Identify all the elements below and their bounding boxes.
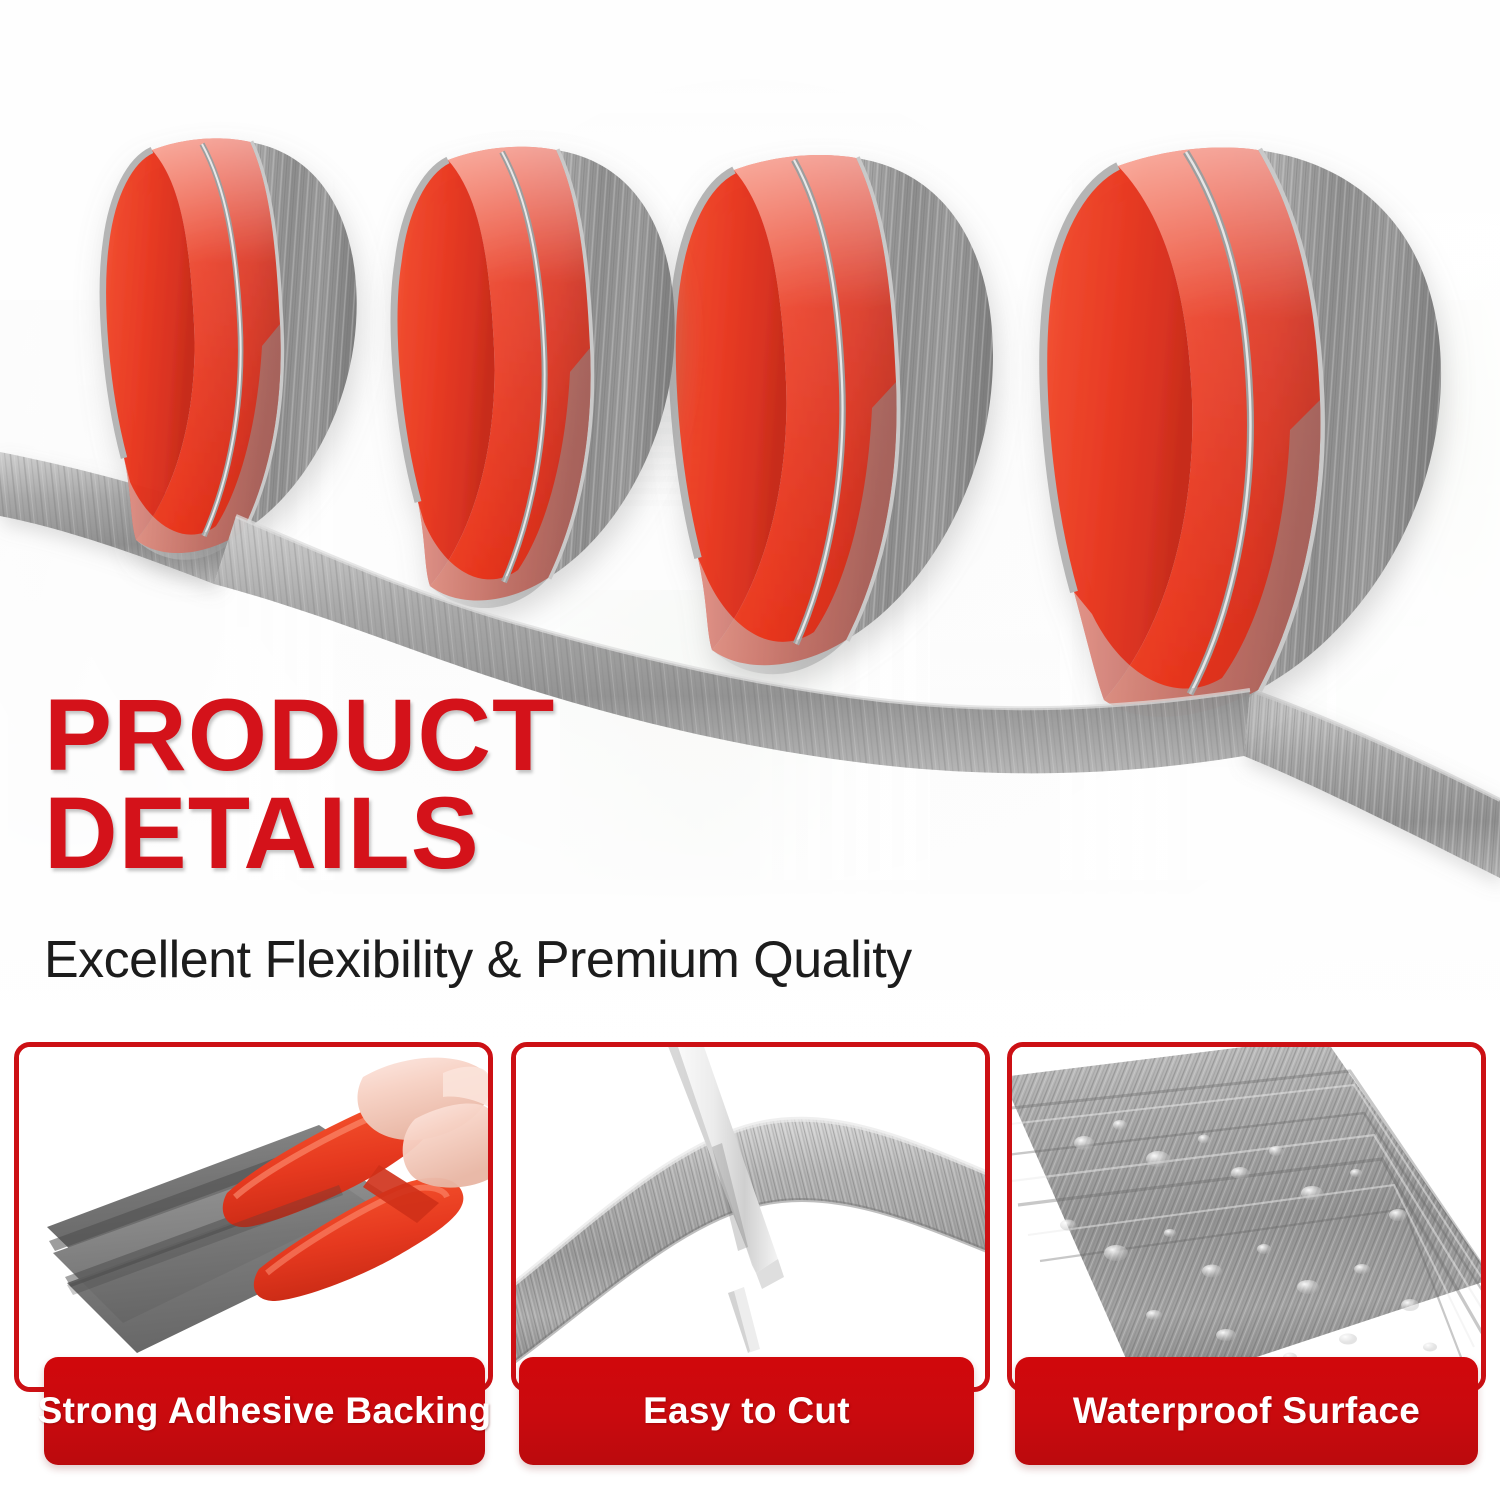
feature-image-panel-2 bbox=[511, 1042, 990, 1392]
feature-caption-3-text: Waterproof Surface bbox=[1073, 1390, 1420, 1432]
strip-tail-right bbox=[1244, 690, 1500, 878]
headline-line-2: DETAILS bbox=[44, 784, 884, 882]
waterproof-surface-photo bbox=[1012, 1047, 1481, 1387]
feature-caption-1-text: Strong Adhesive Backing bbox=[38, 1390, 492, 1432]
feature-card-easy-to-cut: Easy to Cut bbox=[511, 1036, 990, 1500]
product-coil-4 bbox=[1043, 147, 1441, 723]
feature-card-strong-adhesive-backing: Strong Adhesive Backing bbox=[14, 1036, 493, 1500]
product-coil-2 bbox=[394, 147, 675, 608]
feature-image-panel-1 bbox=[14, 1042, 493, 1392]
headline-block: PRODUCT DETAILS bbox=[44, 686, 884, 882]
subheadline: Excellent Flexibility & Premium Quality bbox=[44, 930, 912, 990]
product-coil-1 bbox=[103, 138, 357, 559]
product-coil-3 bbox=[672, 155, 993, 674]
feature-caption-3: Waterproof Surface bbox=[1015, 1357, 1478, 1465]
product-detail-image: PRODUCT DETAILS Excellent Flexibility & … bbox=[0, 0, 1500, 1500]
adhesive-backing-photo bbox=[19, 1047, 488, 1387]
feature-caption-2: Easy to Cut bbox=[519, 1357, 974, 1465]
feature-caption-1: Strong Adhesive Backing bbox=[44, 1357, 485, 1465]
feature-card-waterproof-surface: Waterproof Surface bbox=[1007, 1036, 1486, 1500]
feature-panel-row: Strong Adhesive Backing bbox=[0, 1036, 1500, 1500]
headline-line-1: PRODUCT bbox=[44, 686, 884, 784]
easy-to-cut-photo bbox=[516, 1047, 985, 1387]
feature-image-panel-3 bbox=[1007, 1042, 1486, 1392]
feature-caption-2-text: Easy to Cut bbox=[643, 1390, 850, 1432]
